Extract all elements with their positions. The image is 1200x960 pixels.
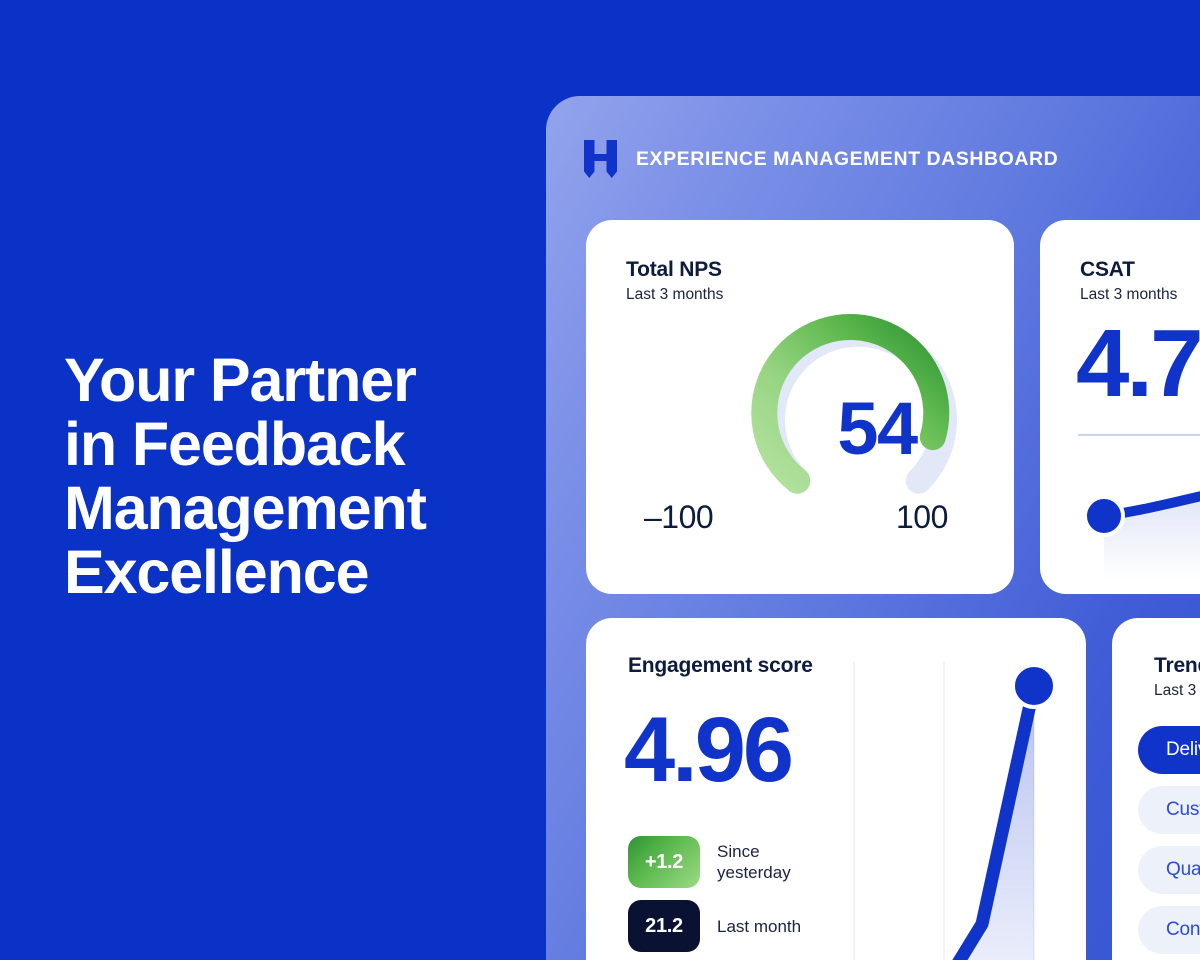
nps-min-label: –100 <box>644 499 713 536</box>
hero-line-4: Excellence <box>64 540 534 604</box>
stat-row-last-month: 21.2 Last month <box>628 900 809 952</box>
dashboard-header: EXPERIENCE MANAGEMENT DASHBOARD <box>584 140 1058 178</box>
engagement-stats: +1.2 Since yesterday 21.2 Last month <box>628 836 809 952</box>
nps-value: 54 <box>738 308 1014 548</box>
trend-pill-customer-service[interactable]: Customer service <box>1138 786 1200 834</box>
stat-label-last-month: Last month <box>717 916 801 937</box>
card-trends[interactable]: Trends Last 3 months Delivery Customer s… <box>1112 618 1200 960</box>
csat-divider <box>1078 434 1200 436</box>
card-total-nps[interactable]: Total NPS Last 3 months <box>586 220 1014 594</box>
csat-value: 4.7 <box>1076 316 1200 412</box>
delta-badge-since-yesterday: +1.2 <box>628 836 700 888</box>
csat-card-header: CSAT Last 3 months <box>1080 258 1177 304</box>
nps-gauge: 54 –100 100 <box>586 308 1014 560</box>
dashboard-title: EXPERIENCE MANAGEMENT DASHBOARD <box>636 148 1058 171</box>
csat-sparkline-chart <box>1062 450 1200 580</box>
engagement-value: 4.96 <box>624 704 791 796</box>
stat-row-since-yesterday: +1.2 Since yesterday <box>628 836 809 888</box>
trend-pill-content[interactable]: Content <box>1138 906 1200 954</box>
hero-headline: Your Partner in Feedback Management Exce… <box>64 348 534 604</box>
nps-subtitle: Last 3 months <box>626 285 723 304</box>
trends-card-header: Trends Last 3 months <box>1154 654 1200 700</box>
value-badge-last-month: 21.2 <box>628 900 700 952</box>
stat-label-since-yesterday: Since yesterday <box>717 841 809 883</box>
nps-title: Total NPS <box>626 258 723 282</box>
trend-pill-quality[interactable]: Quality <box>1138 846 1200 894</box>
csat-title: CSAT <box>1080 258 1177 282</box>
hero-line-3: Management <box>64 476 534 540</box>
csat-subtitle: Last 3 months <box>1080 285 1177 304</box>
card-csat[interactable]: CSAT Last 3 months 4.7 <box>1040 220 1200 594</box>
dashboard-panel: EXPERIENCE MANAGEMENT DASHBOARD Total NP… <box>546 96 1200 960</box>
trends-title: Trends <box>1154 654 1200 678</box>
hexagonal-h-logo-icon <box>584 140 617 178</box>
trend-pill-delivery[interactable]: Delivery <box>1138 726 1200 774</box>
hero-line-2: in Feedback <box>64 412 534 476</box>
hero-line-1: Your Partner <box>64 348 534 412</box>
nps-card-header: Total NPS Last 3 months <box>626 258 723 304</box>
trends-pill-list: Delivery Customer service Quality Conten… <box>1138 726 1200 954</box>
engagement-line-chart <box>834 624 1084 960</box>
nps-max-label: 100 <box>896 499 948 536</box>
engagement-card-header: Engagement score <box>628 654 813 678</box>
trends-subtitle: Last 3 months <box>1154 681 1200 700</box>
engagement-point-3 <box>1013 665 1055 707</box>
csat-point-1 <box>1085 497 1123 535</box>
engagement-title: Engagement score <box>628 654 813 678</box>
card-engagement-score[interactable]: Engagement score 4.96 +1.2 Since yesterd… <box>586 618 1086 960</box>
promo-screenshot: Your Partner in Feedback Management Exce… <box>0 0 1200 960</box>
